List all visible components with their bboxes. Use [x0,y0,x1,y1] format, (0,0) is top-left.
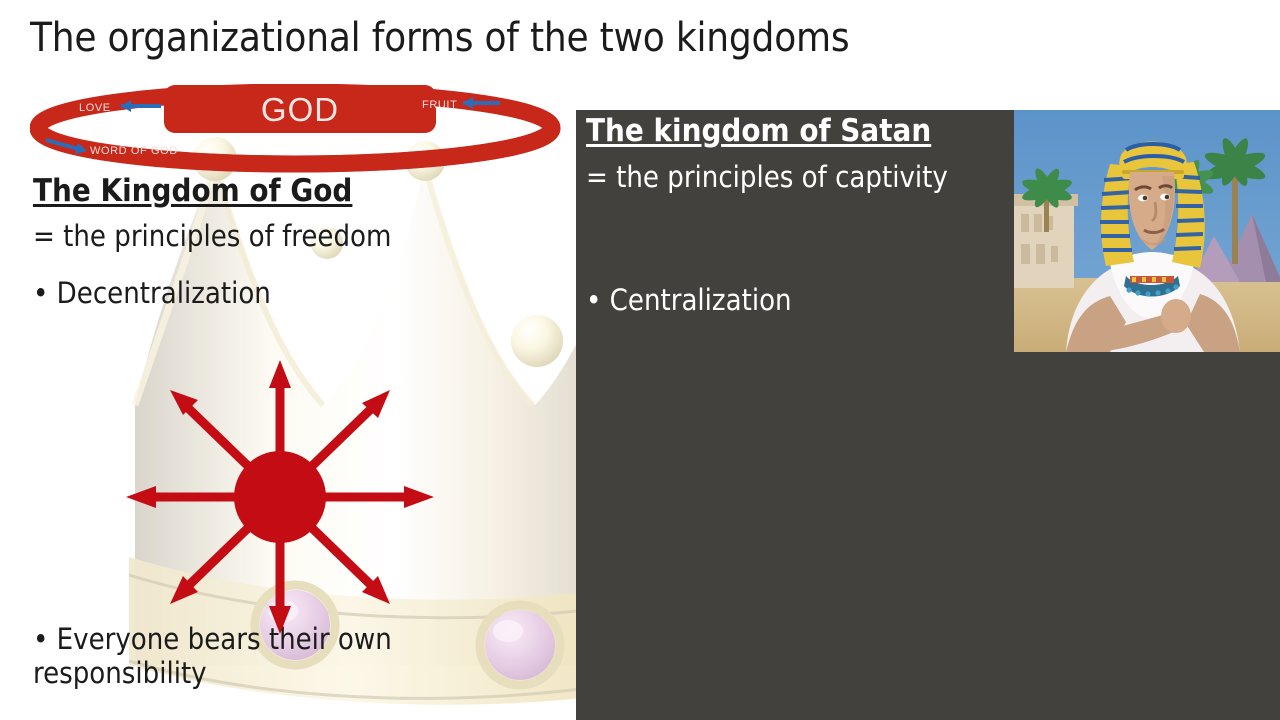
god-label: GOD [261,91,339,128]
kingdom-of-god-bullet-1: • Decentralization [33,276,271,310]
ring-label-word-of-god: WORD OF GOD [90,145,178,157]
slide-canvas: The organizational forms of the two king… [0,0,1280,720]
god-ring-diagram: GOD LOVE FRUIT WORD OF GOD [30,84,570,174]
starburst-center-node [234,451,326,543]
kingdom-of-satan-subheading: = the principles of captivity [586,160,948,194]
kingdom-of-satan-bullet-1: • Centralization [586,283,792,317]
ring-label-love: LOVE [79,102,111,114]
decentralization-starburst-diagram [110,352,450,642]
pharaoh-image [1014,110,1280,352]
kingdom-of-god-subheading: = the principles of freedom [33,219,391,253]
kingdom-of-god-heading: The Kingdom of God [33,173,352,209]
kingdom-of-satan-heading: The kingdom of Satan [586,113,931,149]
ring-label-fruit: FRUIT [422,99,457,111]
page-title: The organizational forms of the two king… [30,16,1030,61]
